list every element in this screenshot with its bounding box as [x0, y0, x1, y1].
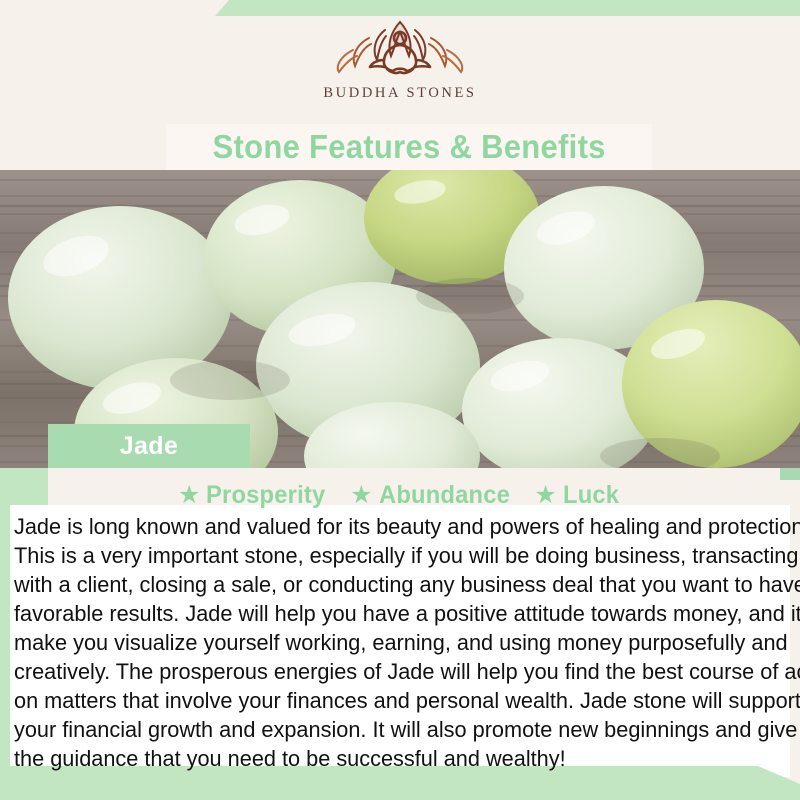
description-line: with a client, closing a sale, or conduc…	[14, 570, 763, 599]
brand-wordmark: BUDDHA STONES	[323, 85, 476, 102]
lotus-meditation-figure-icon	[325, 16, 475, 78]
benefits-row: ★ Prosperity ★ Abundance ★ Luck	[0, 478, 800, 512]
description-line: Jade is long known and valued for its be…	[14, 512, 763, 541]
benefit-label: Luck	[563, 481, 619, 510]
page-title: Stone Features & Benefits	[166, 124, 652, 170]
benefit-item-abundance: ★ Abundance	[350, 481, 516, 510]
infographic-page: BUDDHA STONES Stone Features & Benefits …	[0, 0, 800, 800]
benefit-item-luck: ★ Luck	[534, 481, 622, 510]
benefit-item-prosperity: ★ Prosperity	[178, 481, 332, 510]
stone-name-badge: Jade	[48, 424, 250, 468]
page-title-text: Stone Features & Benefits	[212, 128, 605, 166]
star-icon: ★	[534, 483, 556, 508]
benefit-label: Abundance	[379, 481, 510, 510]
brand-logo: BUDDHA STONES	[0, 16, 800, 102]
description-line: favorable results. Jade will help you ha…	[14, 599, 763, 628]
description-line: on matters that involve your finances an…	[14, 686, 763, 715]
benefit-label: Prosperity	[206, 481, 325, 510]
star-icon: ★	[350, 483, 372, 508]
description-line: This is a very important stone, especial…	[14, 541, 763, 570]
stone-description: Jade is long known and valued for its be…	[14, 512, 790, 773]
description-line: make you visualize yourself working, ear…	[14, 628, 763, 657]
decor-band-top	[215, 0, 800, 16]
stone-name-label: Jade	[120, 432, 179, 461]
description-line: creatively. The prosperous energies of J…	[14, 657, 763, 686]
description-line: your financial growth and expansion. It …	[14, 715, 763, 744]
star-icon: ★	[178, 483, 200, 508]
description-line: the guidance that you need to be success…	[14, 744, 763, 773]
